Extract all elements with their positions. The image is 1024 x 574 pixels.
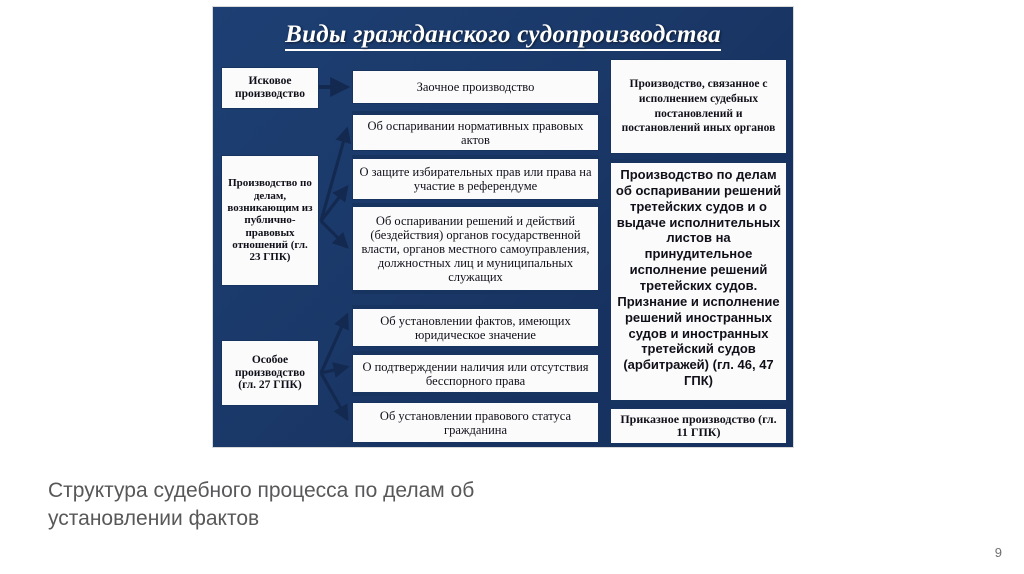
node-resheniya-organov-vlasti[interactable]: Об оспаривании решений и действий (безде… (352, 203, 599, 294)
connector-osoboe-3 (321, 373, 347, 419)
node-osoboe-proizvodstvo[interactable]: Особое производство (гл. 27 ГПК) (221, 340, 319, 406)
node-besspornoe-pravo[interactable]: О подтверждении наличия или отсутствия б… (352, 351, 599, 396)
slide-caption: Структура судебного процесса по делам об… (48, 477, 608, 532)
diagram-canvas: Виды гражданского судопроизводства Исков… (212, 6, 794, 448)
node-zaochnoe-proizvodstvo[interactable]: Заочное производство (352, 70, 599, 104)
connector-osoboe-2 (321, 367, 347, 373)
connector-public-2 (321, 187, 347, 221)
connector-public-1 (321, 129, 347, 221)
caption-line-2: установлении фактов (48, 505, 608, 533)
node-ustanovlenie-faktov[interactable]: Об установлении фактов, имеющих юридичес… (352, 305, 599, 347)
diagram-title-text: Виды гражданского судопроизводства (285, 21, 721, 51)
node-treteyskie-sudy[interactable]: Производство по делам об оспаривании реш… (610, 159, 787, 404)
node-normativnye-pravovye-akty[interactable]: Об оспаривании нормативных правовых акто… (352, 111, 599, 151)
diagram-title: Виды гражданского судопроизводства (213, 21, 793, 49)
node-publichno-pravovye[interactable]: Производство по делам, возникающим из пу… (221, 155, 319, 286)
node-ispolnenie-postanovleniy[interactable]: Производство, связанное с исполнением су… (610, 59, 787, 154)
page-number: 9 (995, 545, 1002, 560)
caption-line-1: Структура судебного процесса по делам об (48, 477, 608, 505)
node-izbiratelnye-prava[interactable]: О защите избирательных прав или права на… (352, 155, 599, 200)
connector-osoboe-1 (321, 315, 347, 373)
node-prikaznoe-proizvodstvo[interactable]: Приказное производство (гл. 11 ГПК) (610, 408, 787, 444)
node-iskovoe-proizvodstvo[interactable]: Исковое производство (221, 67, 319, 109)
connector-public-3 (321, 221, 347, 247)
node-pravovoy-status-grazhdanina[interactable]: Об установлении правового статуса гражда… (352, 402, 599, 443)
